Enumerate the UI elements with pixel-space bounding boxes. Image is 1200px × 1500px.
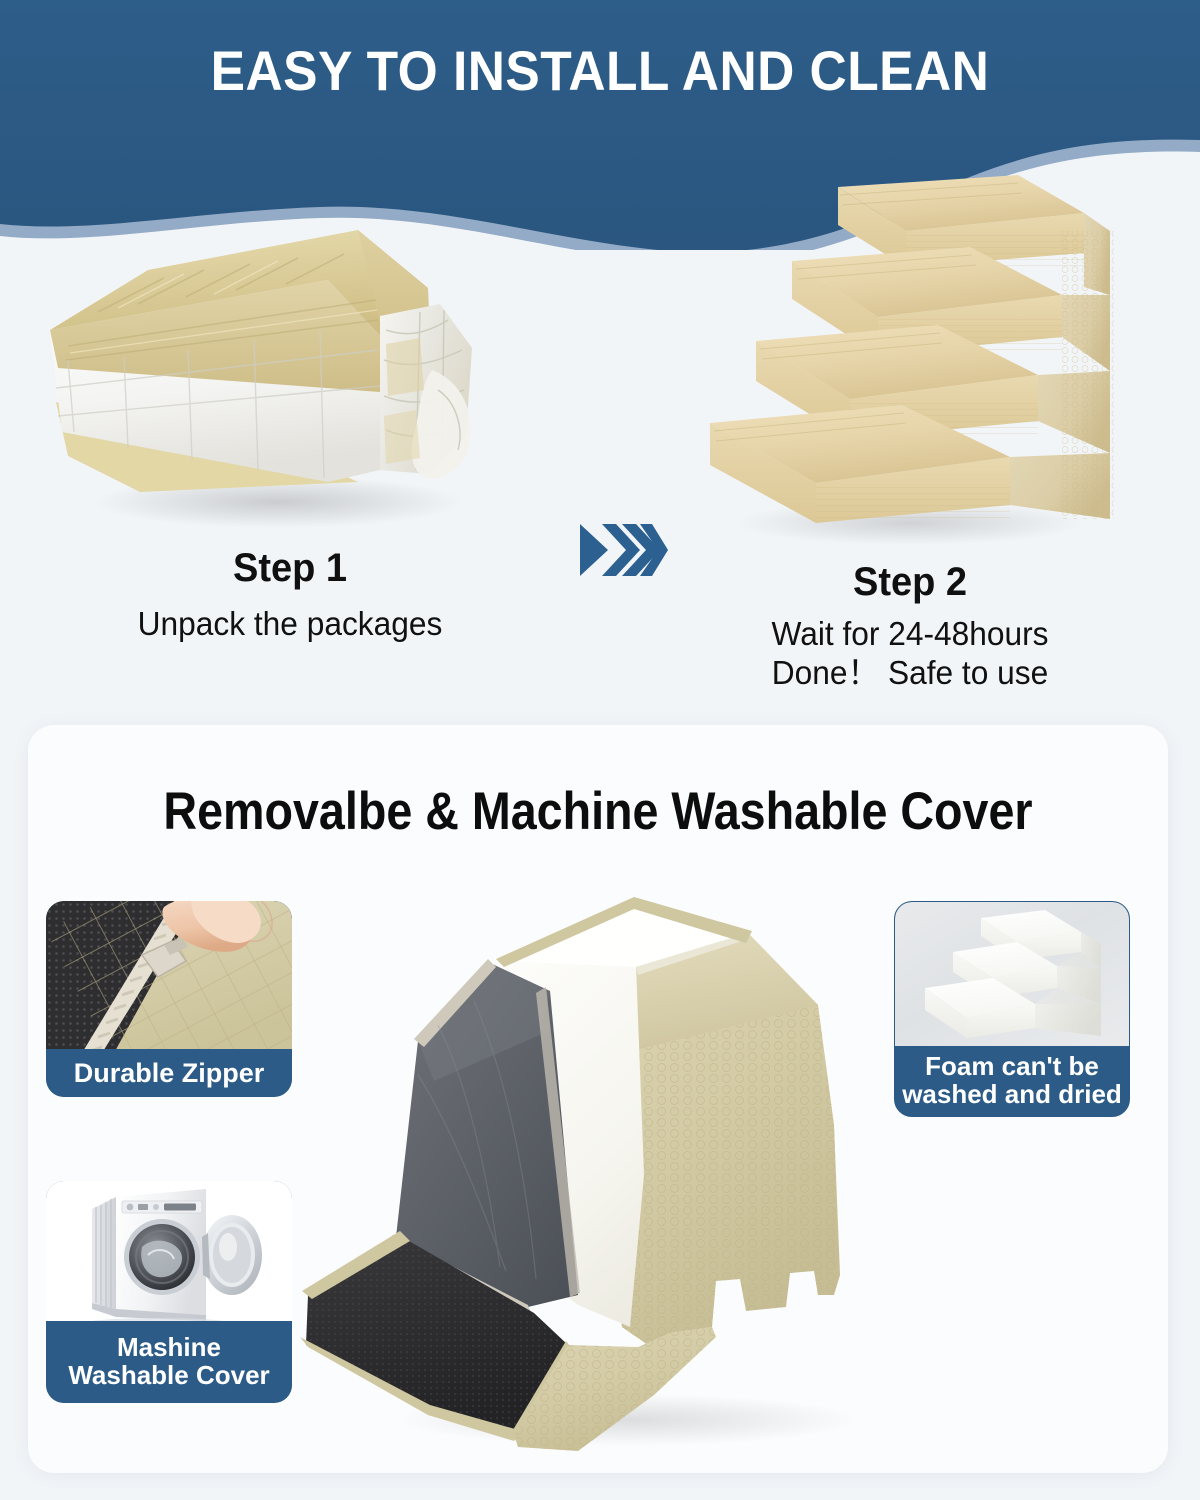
- washing-machine-photo: [46, 1181, 292, 1327]
- step-1-title: Step 1: [24, 546, 556, 591]
- thumbnail-durable-zipper[interactable]: Durable Zipper: [46, 901, 292, 1097]
- step-1-subtitle: Unpack the packages: [21, 605, 559, 644]
- foam-no-wash-label-line1: Foam can't be: [925, 1051, 1099, 1081]
- thumbnail-durable-zipper-label: Durable Zipper: [46, 1049, 292, 1097]
- step-2-subtitle: Wait for 24-48hours Done！ Safe to use: [651, 615, 1169, 693]
- machine-washable-label-line1: Mashine: [117, 1332, 221, 1362]
- vacuum-packed-bundle-illustration: [28, 220, 528, 540]
- thumbnail-foam-no-wash-label: Foam can't be washed and dried: [895, 1046, 1129, 1116]
- step-2-block: Step 2 Wait for 24-48hours Done！ Safe to…: [640, 175, 1180, 693]
- pet-stairs-illustration: [670, 175, 1130, 555]
- zipper-photo: [46, 901, 292, 1053]
- hero-product-image: [278, 875, 918, 1455]
- page-title: EASY TO INSTALL AND CLEAN: [48, 38, 1152, 103]
- card-title: Removalbe & Machine Washable Cover: [96, 781, 1099, 842]
- washable-cover-card: Removalbe & Machine Washable Cover: [28, 725, 1168, 1473]
- thumbnail-machine-washable-label: Mashine Washable Cover: [46, 1321, 292, 1403]
- step-2-subtitle-line2: Done！ Safe to use: [772, 654, 1048, 691]
- thumbnail-machine-washable[interactable]: Mashine Washable Cover: [46, 1181, 292, 1403]
- steps-section: Step 1 Unpack the packages: [0, 175, 1200, 720]
- step-2-title: Step 2: [654, 560, 1167, 605]
- foam-no-wash-label-line2: washed and dried: [902, 1079, 1122, 1109]
- step-1-block: Step 1 Unpack the packages: [10, 210, 570, 644]
- machine-washable-label-line2: Washable Cover: [68, 1360, 269, 1390]
- foam-block-photo: [895, 902, 1129, 1050]
- step-2-image: [640, 175, 1180, 560]
- thumbnail-foam-no-wash[interactable]: Foam can't be washed and dried: [894, 901, 1130, 1117]
- step-1-image: [10, 210, 570, 540]
- step-2-subtitle-line1: Wait for 24-48hours: [771, 615, 1048, 652]
